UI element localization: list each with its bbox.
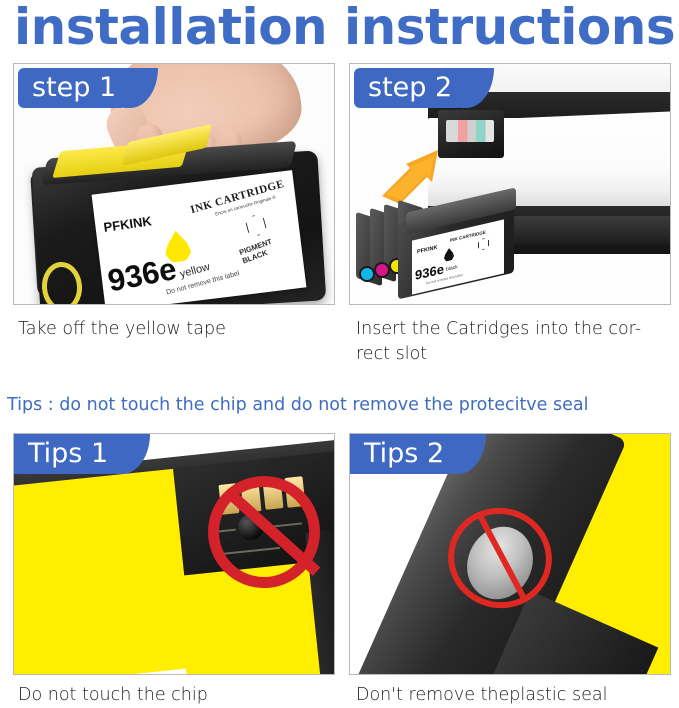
panel-tips-1: Tips 1 xyxy=(13,433,335,675)
cartridge-label: PFKINK INK CARTRIDGE Encre en cartouche … xyxy=(92,170,307,304)
ink-drop-icon xyxy=(444,247,454,262)
hexagon-icon xyxy=(478,237,489,252)
tips-note: Tips : do not touch the chip and do not … xyxy=(7,395,588,415)
panel-tips-2: Tips 2 xyxy=(349,433,671,675)
caption-step-2-line-1: Insert the Catridges into the cor- xyxy=(356,317,664,342)
caption-tips-1: Do not touch the chip xyxy=(18,683,318,708)
badge-tips-1: Tips 1 xyxy=(14,434,134,474)
badge-step-1: step 1 xyxy=(18,68,142,108)
label-brand: PFKINK xyxy=(417,245,437,256)
panel-step-1: PFKINK INK CARTRIDGE Encre en cartouche … xyxy=(13,63,335,305)
port-magenta-icon xyxy=(374,262,390,278)
insert-arrow-icon xyxy=(380,134,460,204)
caption-step-2: Insert the Catridges into the cor- rect … xyxy=(356,317,664,367)
installation-instructions-page: installation instructions PFKINK INK CAR… xyxy=(0,0,679,708)
caption-step-2-line-2: rect slot xyxy=(356,342,664,367)
badge-step-2: step 2 xyxy=(354,68,478,108)
label-color-name: black xyxy=(446,264,458,273)
label-pigment: PIGMENT BLACK xyxy=(238,227,302,265)
port-cyan-icon xyxy=(359,266,375,282)
label-brand: PFKINK xyxy=(103,213,153,235)
caption-step-1: Take off the yellow tape xyxy=(18,317,318,342)
page-title: installation instructions xyxy=(14,0,674,58)
badge-tips-2: Tips 2 xyxy=(350,434,470,474)
cartridge-yellow-face xyxy=(14,469,194,674)
hexagon-icon xyxy=(244,213,268,238)
caption-tips-2: Don't remove theplastic seal xyxy=(356,683,664,708)
panel-step-2: PFKINK INK CARTRIDGE 936e black Do not r… xyxy=(349,63,671,305)
